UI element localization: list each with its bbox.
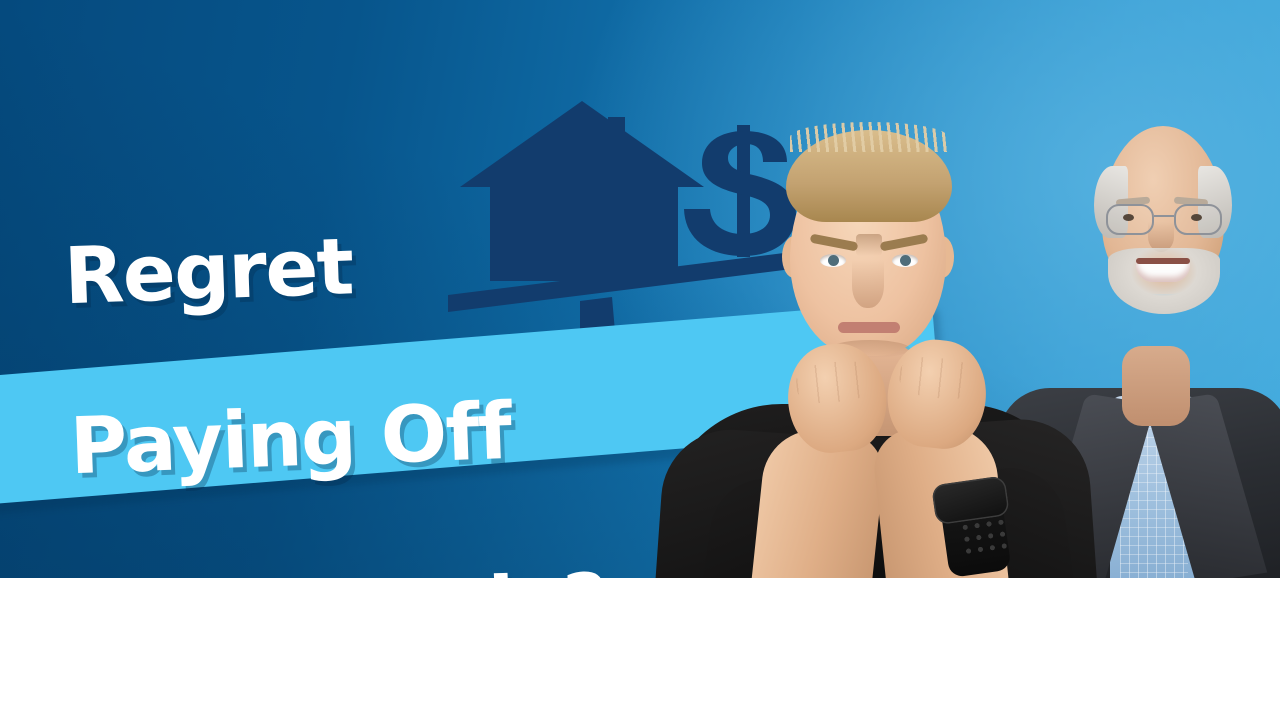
lens-right	[1174, 204, 1222, 235]
watch-band-holes	[958, 516, 1009, 562]
pupil-left	[828, 255, 839, 266]
hair	[786, 130, 952, 222]
eyeglasses-icon	[1104, 204, 1224, 238]
footer-bar: HIGHLIGHTS	[0, 578, 1280, 720]
person-young-man	[640, 108, 1100, 578]
hero-background: Regret Paying Off Home Early?	[0, 0, 1280, 578]
knuckles-right	[898, 354, 980, 402]
knuckles-left	[794, 358, 876, 406]
mouth	[838, 322, 900, 333]
nose	[852, 260, 884, 308]
neck	[1122, 346, 1190, 426]
smart-watch	[931, 485, 1020, 578]
glasses-bridge	[1154, 215, 1174, 217]
thumbnail-canvas: Regret Paying Off Home Early?	[0, 0, 1280, 720]
lens-left	[1106, 204, 1154, 235]
pupil-right	[900, 255, 911, 266]
smiling-mouth	[1136, 262, 1190, 282]
brow-furrow	[856, 234, 882, 256]
